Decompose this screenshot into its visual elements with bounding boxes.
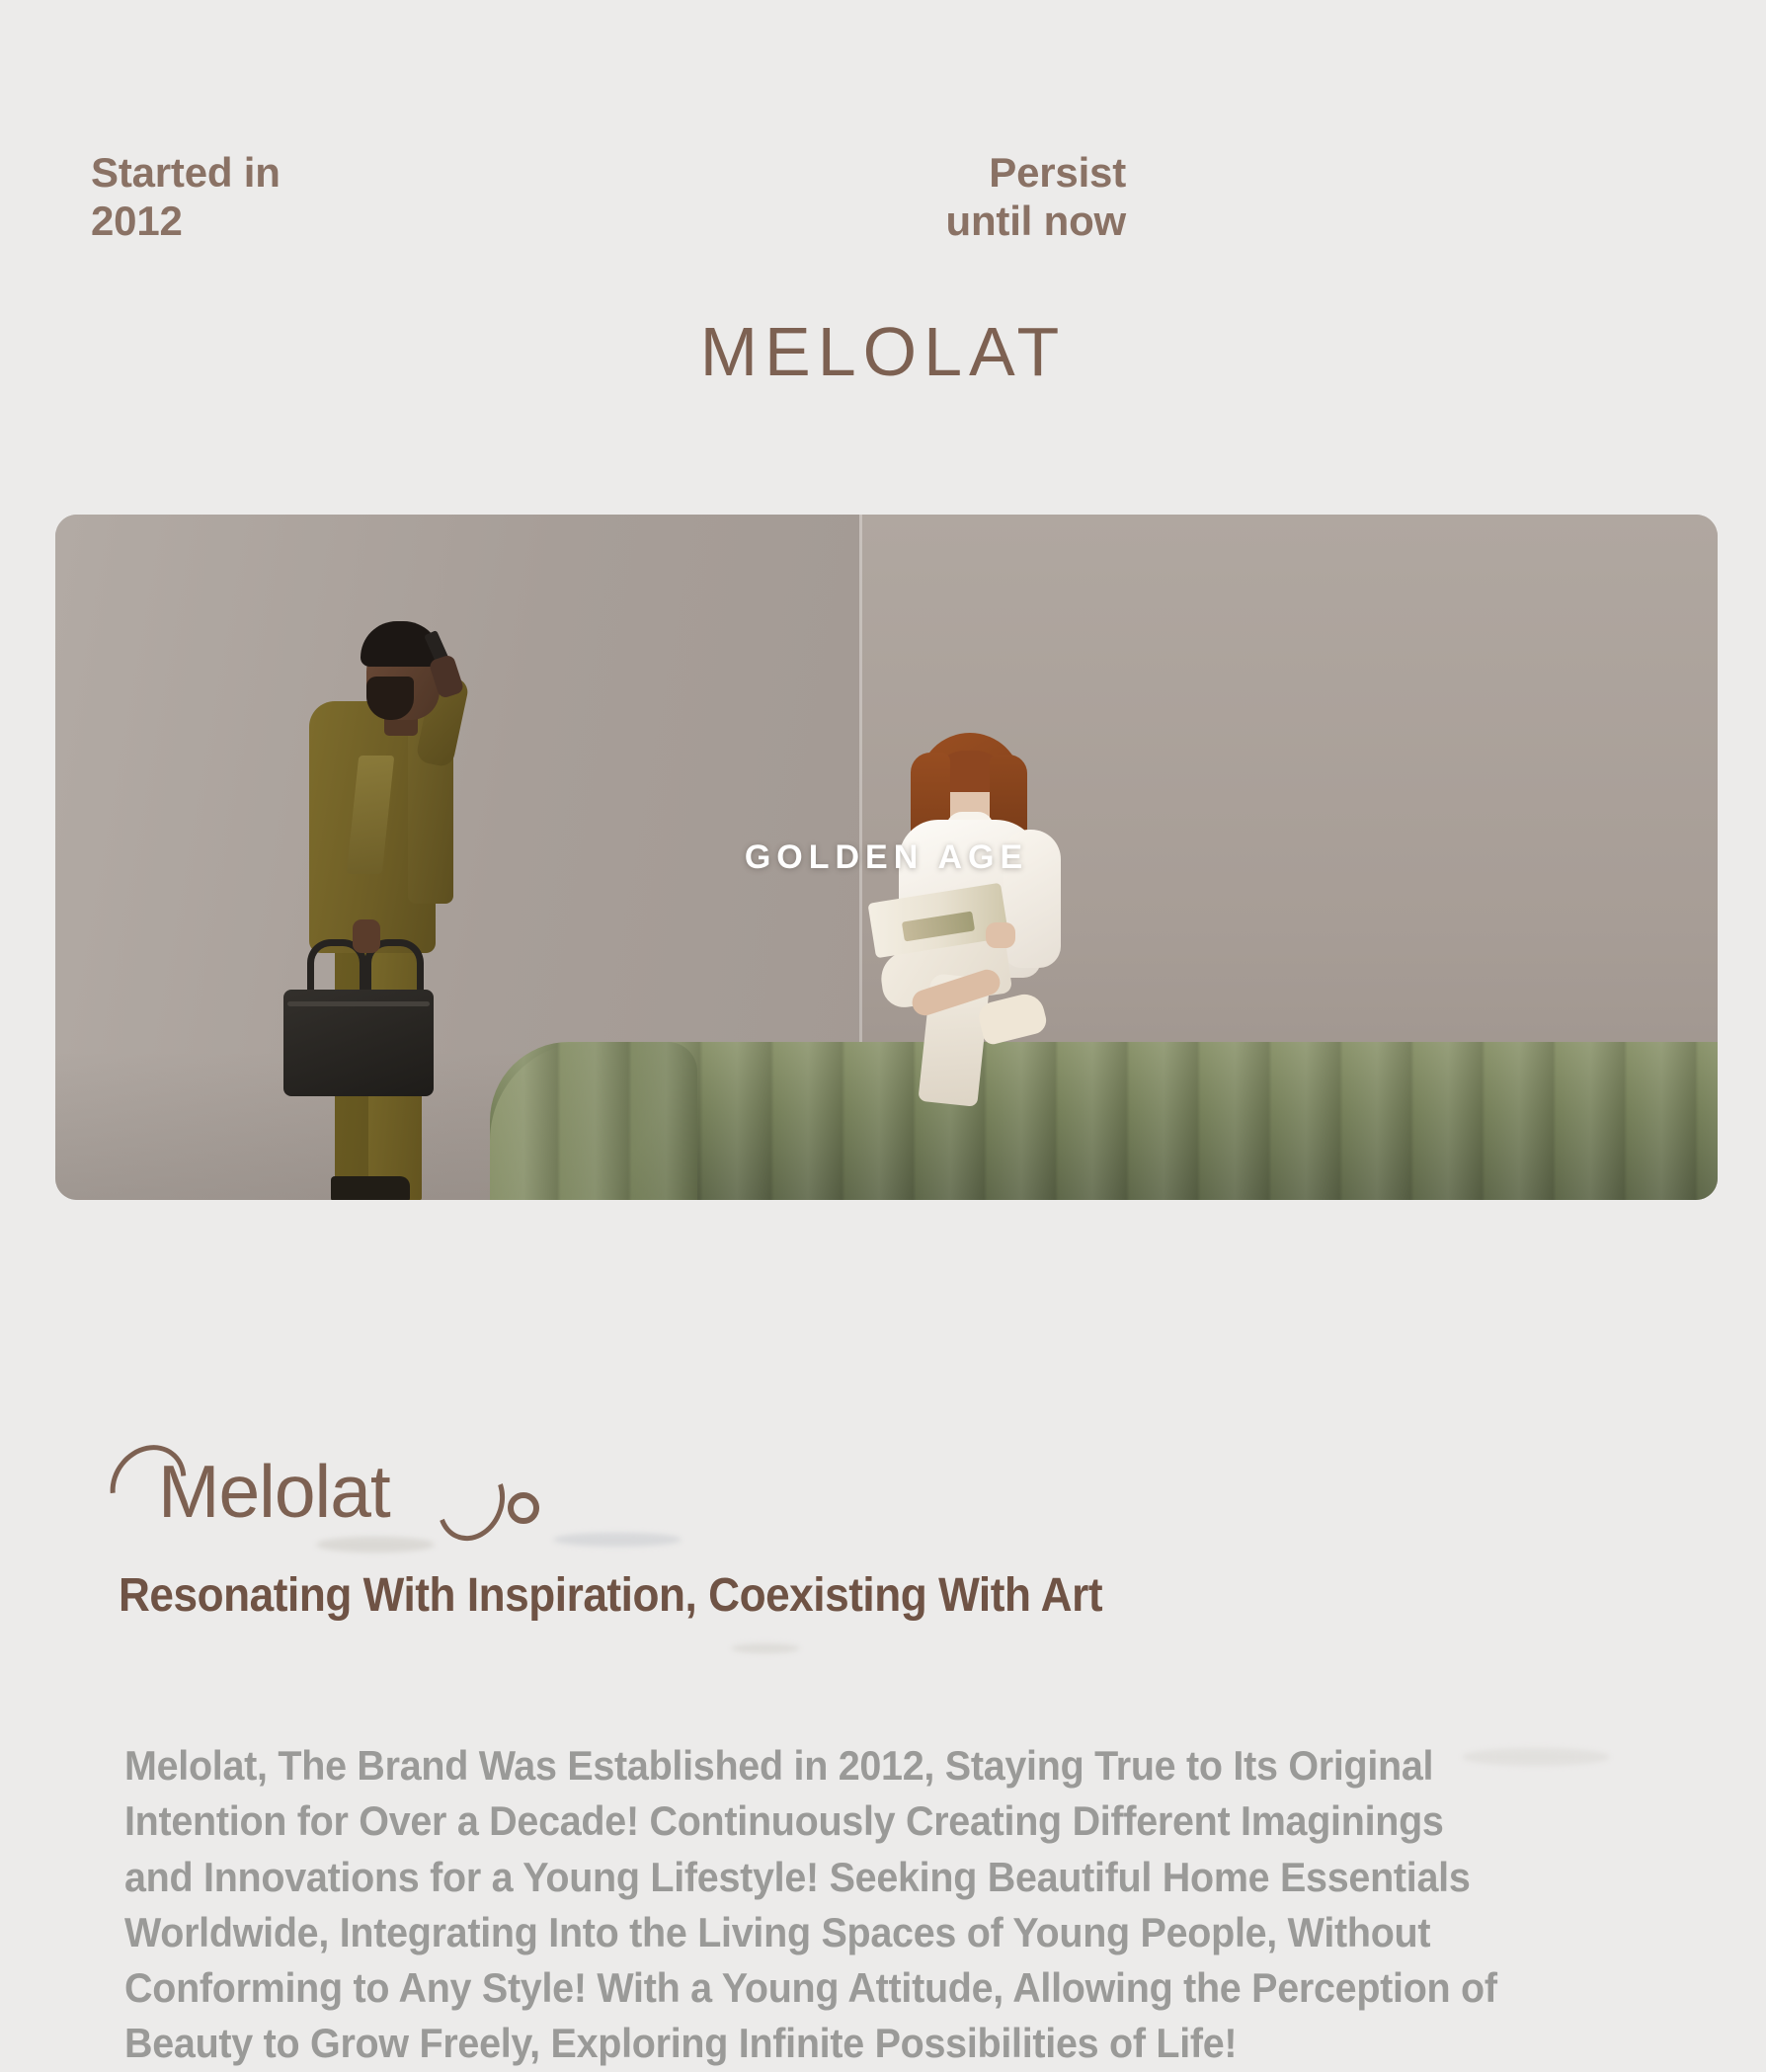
woman-hand: [986, 922, 1015, 948]
woman-sleeve: [1003, 830, 1061, 968]
woman-reading-figure: [863, 681, 1110, 1096]
page-title: MELOLAT: [0, 312, 1766, 391]
briefcase-zipper: [287, 1001, 430, 1006]
started-in-label: Started in 2012: [91, 148, 281, 245]
man-shoe: [331, 1176, 410, 1200]
man-hand-holding-briefcase: [353, 919, 380, 953]
swoosh-right-icon: [426, 1454, 516, 1552]
brand-tagline: Resonating With Inspiration, Coexisting …: [119, 1568, 1102, 1623]
header-meta-row: Started in 2012 Persist until now: [0, 148, 1766, 257]
background-artifact: [553, 1533, 682, 1547]
persist-until-now-label: Persist until now: [946, 148, 1126, 245]
man-beard: [366, 677, 414, 720]
hero-banner[interactable]: GOLDEN AGE: [55, 515, 1718, 1200]
brand-logo-text: Melolat: [158, 1455, 390, 1529]
background-artifact: [731, 1643, 800, 1653]
brand-logo: Melolat: [124, 1437, 390, 1546]
circle-dot-icon: [508, 1492, 539, 1524]
man-with-briefcase-figure: [258, 568, 515, 1200]
brand-description-paragraph: Melolat, The Brand Was Established in 20…: [124, 1738, 1498, 2072]
